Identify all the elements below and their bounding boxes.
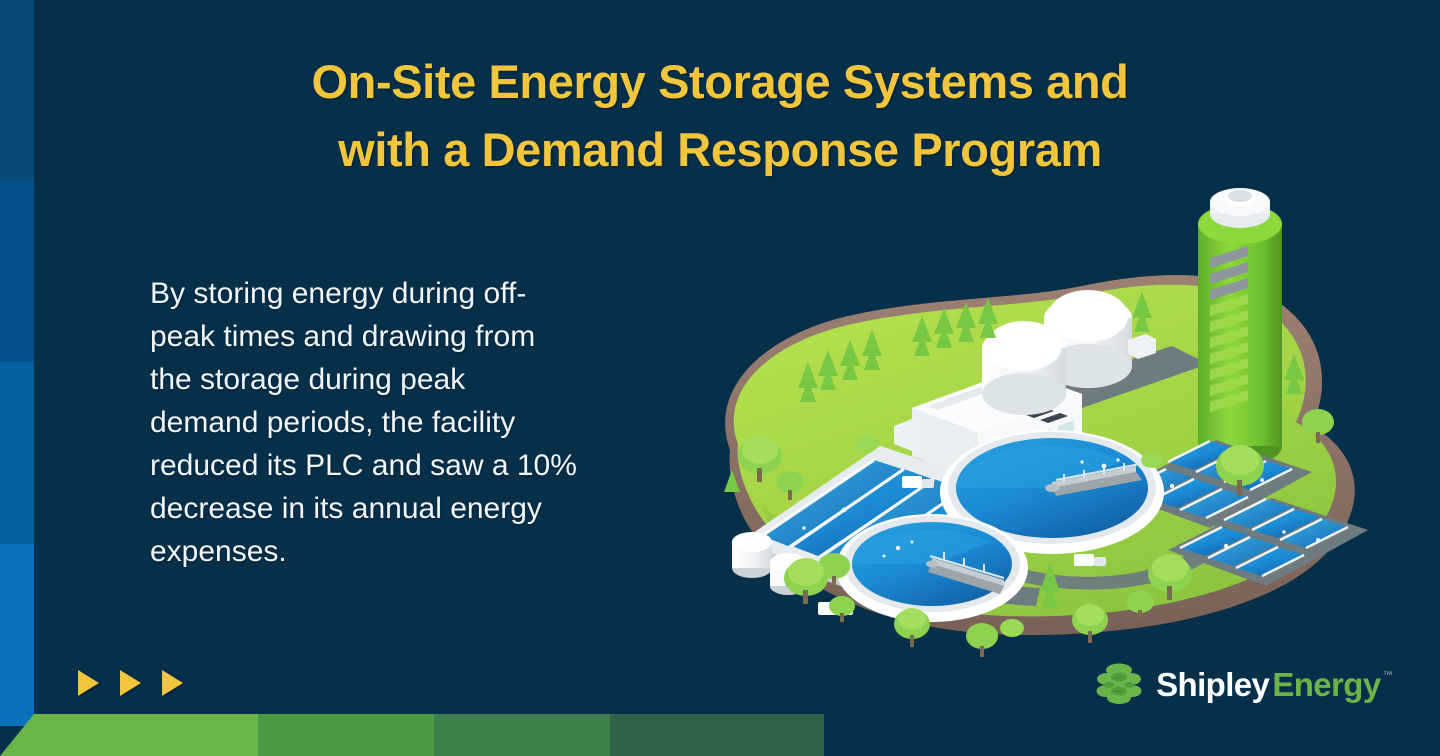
slide-canvas: On-Site Energy Storage Systems and with … (0, 0, 1440, 756)
play-triangle-icon (120, 670, 141, 696)
logo-word-energy: Energy (1272, 668, 1380, 701)
bar-segment-1 (0, 714, 258, 756)
shipley-leaf-mark-icon (1095, 660, 1143, 708)
stripe-segment-4 (0, 544, 34, 726)
body-paragraph: By storing energy during off-peak times … (150, 272, 580, 573)
logo-word-shipley: Shipley (1156, 668, 1269, 701)
logo-trademark-icon: ™ (1383, 671, 1392, 681)
logo-wordmark: Shipley Energy ™ (1156, 668, 1392, 701)
shipley-energy-logo[interactable]: Shipley Energy ™ (1095, 660, 1392, 708)
play-triangle-icon (162, 670, 183, 696)
circular-clarifier-small (836, 514, 1028, 622)
left-accent-stripe (0, 0, 34, 726)
bar-segment-4 (610, 714, 824, 756)
arrow-decoration-group (78, 670, 183, 696)
page-title-line-1: On-Site Energy Storage Systems and (180, 48, 1260, 116)
green-battery-icon (1198, 188, 1282, 466)
isometric-wastewater-treatment-plant-illustration (612, 150, 1392, 670)
play-triangle-icon (78, 670, 99, 696)
bar-segment-2 (258, 714, 434, 756)
bar-segment-3 (434, 714, 610, 756)
stripe-segment-1 (0, 0, 34, 180)
stripe-segment-2 (0, 180, 34, 362)
stripe-segment-3 (0, 362, 34, 544)
bottom-accent-bar (0, 714, 824, 756)
